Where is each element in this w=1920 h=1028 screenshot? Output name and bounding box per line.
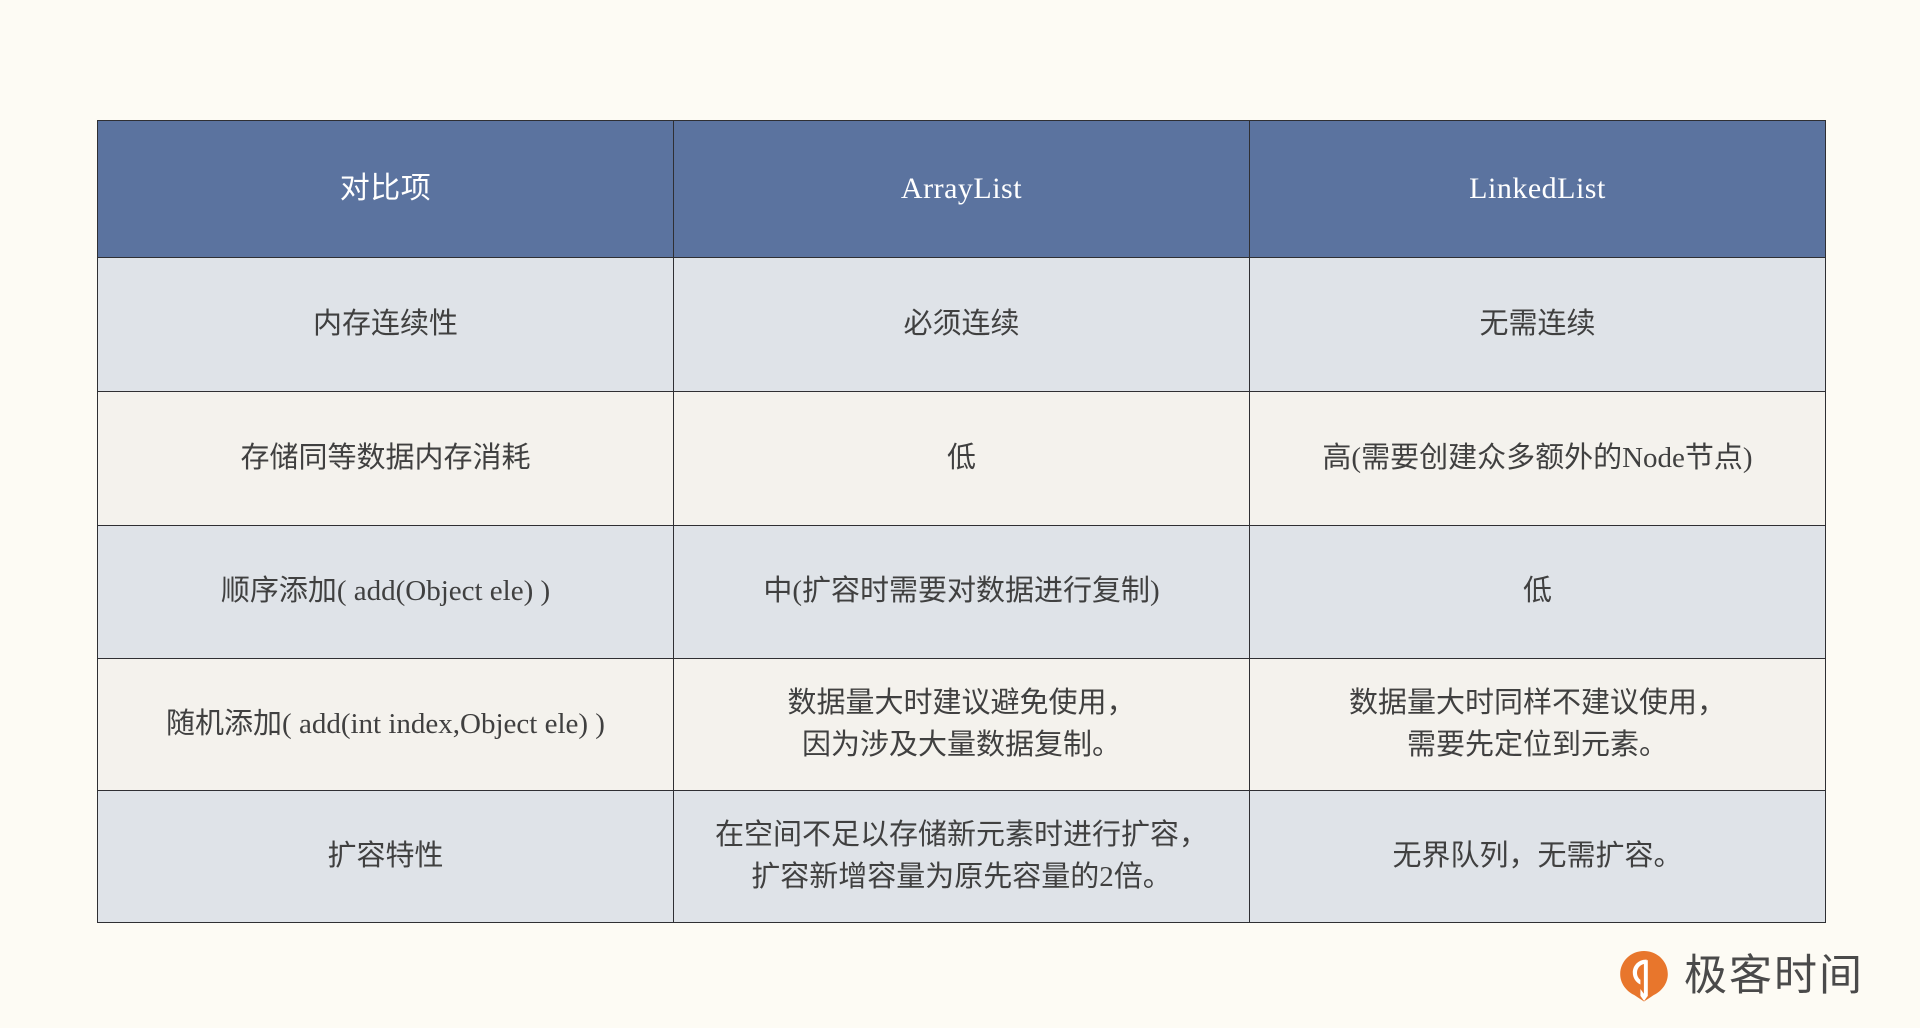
- column-header-comparison-item: 对比项: [98, 121, 674, 258]
- row-label-growth-behavior: 扩容特性: [98, 791, 674, 923]
- table-row: 随机添加( add(int index,Object ele) ) 数据量大时建…: [98, 659, 1826, 791]
- cell-linkedlist-memory-continuity: 无需连续: [1250, 258, 1826, 392]
- cell-line: 高(需要创建众多额外的Node节点): [1264, 438, 1811, 479]
- table-row: 扩容特性 在空间不足以存储新元素时进行扩容， 扩容新增容量为原先容量的2倍。 无…: [98, 791, 1826, 923]
- row-label-sequential-add: 顺序添加( add(Object ele) ): [98, 526, 674, 659]
- cell-linkedlist-sequential-add: 低: [1250, 526, 1826, 659]
- cell-line: 必须连续: [688, 304, 1235, 345]
- cell-linkedlist-random-add: 数据量大时同样不建议使用， 需要先定位到元素。: [1250, 659, 1826, 791]
- cell-line: 数据量大时同样不建议使用，: [1264, 683, 1811, 724]
- slide-canvas: 对比项 ArrayList LinkedList 内存连续性 必须连续 无需连续: [0, 0, 1920, 1028]
- cell-line: 无需连续: [1264, 304, 1811, 345]
- cell-line: 低: [1264, 571, 1811, 612]
- cell-linkedlist-memory-consumption: 高(需要创建众多额外的Node节点): [1250, 392, 1826, 526]
- brand-logo: 极客时间: [1617, 946, 1864, 1006]
- brand-name: 极客时间: [1684, 955, 1864, 998]
- cell-linkedlist-growth-behavior: 无界队列，无需扩容。: [1250, 791, 1826, 923]
- cell-arraylist-sequential-add: 中(扩容时需要对数据进行复制): [674, 526, 1250, 659]
- row-label-random-add: 随机添加( add(int index,Object ele) ): [98, 659, 674, 791]
- table-body: 内存连续性 必须连续 无需连续 存储同等数据内存消耗 低: [98, 258, 1826, 923]
- table-header-row: 对比项 ArrayList LinkedList: [98, 121, 1826, 258]
- cell-arraylist-growth-behavior: 在空间不足以存储新元素时进行扩容， 扩容新增容量为原先容量的2倍。: [674, 791, 1250, 923]
- cell-line: 因为涉及大量数据复制。: [688, 725, 1235, 766]
- row-label-memory-continuity: 内存连续性: [98, 258, 674, 392]
- cell-line: 在空间不足以存储新元素时进行扩容，: [688, 815, 1235, 856]
- cell-arraylist-memory-continuity: 必须连续: [674, 258, 1250, 392]
- table-header: 对比项 ArrayList LinkedList: [98, 121, 1826, 258]
- row-label-memory-consumption: 存储同等数据内存消耗: [98, 392, 674, 526]
- column-header-arraylist: ArrayList: [674, 121, 1250, 258]
- geektime-pin-icon: [1617, 949, 1671, 1003]
- cell-arraylist-memory-consumption: 低: [674, 392, 1250, 526]
- arraylist-linkedlist-comparison-table: 对比项 ArrayList LinkedList 内存连续性 必须连续 无需连续: [97, 120, 1826, 923]
- table-row: 顺序添加( add(Object ele) ) 中(扩容时需要对数据进行复制) …: [98, 526, 1826, 659]
- cell-line: 无界队列，无需扩容。: [1264, 836, 1811, 877]
- cell-line: 需要先定位到元素。: [1264, 725, 1811, 766]
- table-row: 存储同等数据内存消耗 低 高(需要创建众多额外的Node节点): [98, 392, 1826, 526]
- column-header-linkedlist: LinkedList: [1250, 121, 1826, 258]
- cell-line: 扩容新增容量为原先容量的2倍。: [688, 857, 1235, 898]
- cell-line: 低: [688, 438, 1235, 479]
- table-row: 内存连续性 必须连续 无需连续: [98, 258, 1826, 392]
- cell-line: 数据量大时建议避免使用，: [688, 683, 1235, 724]
- cell-line: 中(扩容时需要对数据进行复制): [688, 571, 1235, 612]
- cell-arraylist-random-add: 数据量大时建议避免使用， 因为涉及大量数据复制。: [674, 659, 1250, 791]
